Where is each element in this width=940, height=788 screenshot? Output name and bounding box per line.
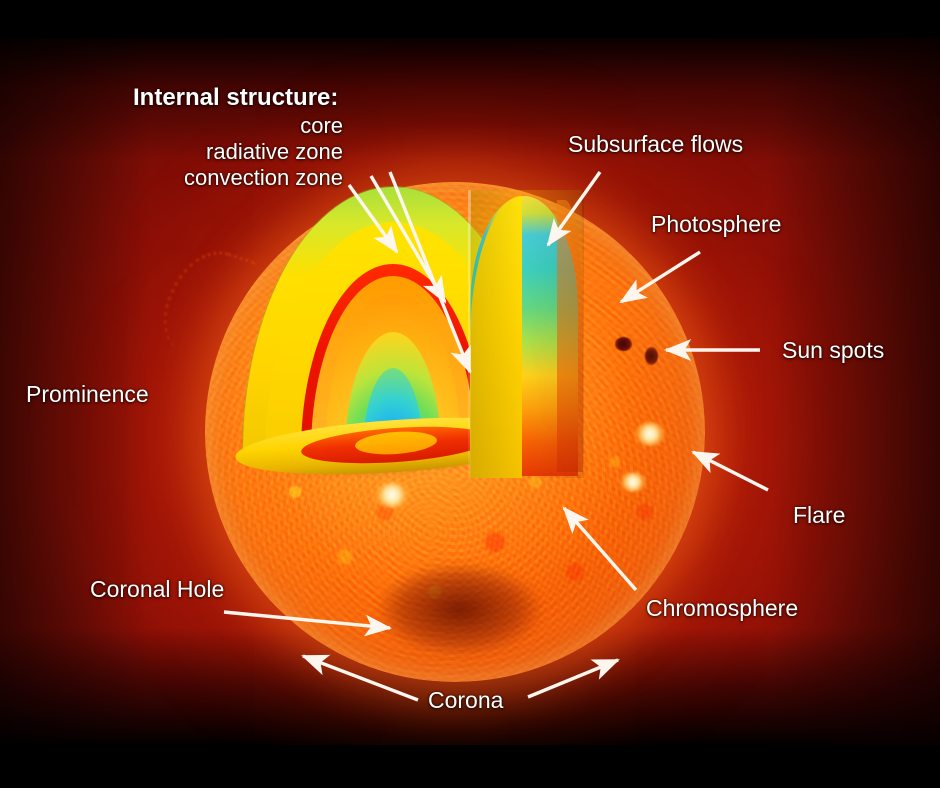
label-photosphere: Photosphere	[651, 211, 781, 238]
label-corona: Corona	[428, 687, 503, 714]
label-coronal-hole: Coronal Hole	[90, 576, 224, 603]
solar-structure-diagram: Internal structure: core radiative zone …	[0, 0, 940, 788]
label-flare: Flare	[793, 502, 845, 529]
label-chromosphere: Chromosphere	[646, 595, 798, 622]
internal-structure-cutaway	[205, 182, 705, 682]
label-radiative-zone: radiative zone	[163, 139, 343, 165]
label-prominence: Prominence	[26, 381, 149, 408]
label-subsurface-flows: Subsurface flows	[568, 131, 743, 158]
cutaway-edge-highlight	[468, 190, 471, 478]
internal-structure-heading: Internal structure:	[133, 84, 338, 112]
label-convection-zone: convection zone	[163, 165, 343, 191]
label-core: core	[163, 113, 343, 139]
letterbox-bottom	[0, 745, 940, 788]
letterbox-top	[0, 0, 940, 38]
label-sun-spots: Sun spots	[782, 337, 884, 364]
cutaway-face-shading	[470, 190, 584, 478]
